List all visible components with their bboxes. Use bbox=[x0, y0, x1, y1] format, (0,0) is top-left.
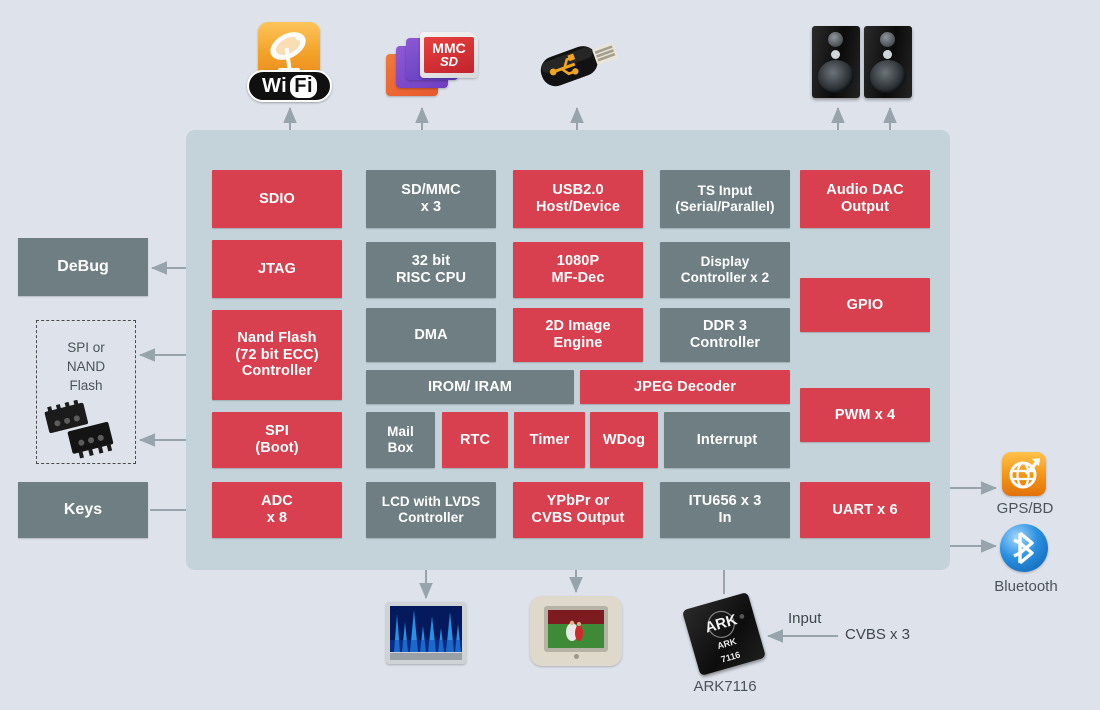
flash-label-line1: SPI or bbox=[36, 338, 136, 357]
block-lcd-lvds-controller[interactable]: LCD with LVDS Controller bbox=[366, 482, 496, 538]
wifi-wordmark: WiFi bbox=[247, 70, 332, 102]
speaker-left-icon bbox=[812, 26, 864, 104]
gps-globe-icon bbox=[1002, 452, 1046, 496]
block-jtag[interactable]: JTAG bbox=[212, 240, 342, 298]
block-wdog[interactable]: WDog bbox=[590, 412, 658, 468]
block-label: Output bbox=[841, 199, 889, 216]
block-adc[interactable]: ADC x 8 bbox=[212, 482, 342, 538]
block-label: Display bbox=[701, 254, 750, 270]
peripheral-label: DeBug bbox=[57, 258, 109, 276]
block-2d-image-engine[interactable]: 2D Image Engine bbox=[513, 308, 643, 362]
block-label: 1080P bbox=[557, 253, 599, 270]
block-label: JTAG bbox=[258, 261, 296, 278]
block-sd-mmc[interactable]: SD/MMC x 3 bbox=[366, 170, 496, 228]
peripheral-debug[interactable]: DeBug bbox=[18, 238, 148, 296]
block-risc-cpu[interactable]: 32 bit RISC CPU bbox=[366, 242, 496, 298]
block-jpeg-decoder[interactable]: JPEG Decoder bbox=[580, 370, 790, 404]
block-label: Interrupt bbox=[697, 432, 758, 449]
block-mail-box[interactable]: Mail Box bbox=[366, 412, 435, 468]
block-label: (Serial/Parallel) bbox=[675, 199, 774, 215]
bluetooth-caption: Bluetooth bbox=[966, 578, 1086, 595]
block-label: Controller bbox=[242, 363, 312, 380]
block-label: Mail bbox=[387, 424, 414, 440]
block-label: PWM x 4 bbox=[835, 407, 895, 424]
block-label: WDog bbox=[603, 432, 645, 449]
block-label: MF-Dec bbox=[552, 270, 605, 287]
block-ypbpr-cvbs-output[interactable]: YPbPr or CVBS Output bbox=[513, 482, 643, 538]
block-label: SPI bbox=[265, 423, 289, 440]
block-ts-input[interactable]: TS Input (Serial/Parallel) bbox=[660, 170, 790, 228]
input-annotation: Input bbox=[788, 610, 821, 627]
block-irom-iram[interactable]: IROM/ IRAM bbox=[366, 370, 574, 404]
block-label: 2D Image bbox=[545, 318, 610, 335]
block-label: Box bbox=[388, 440, 414, 456]
block-label: RISC CPU bbox=[396, 270, 466, 287]
block-uart[interactable]: UART x 6 bbox=[800, 482, 930, 538]
svg-text:ARK: ARK bbox=[703, 611, 739, 636]
block-ddr3-controller[interactable]: DDR 3 Controller bbox=[660, 308, 790, 362]
monitor-stand-bar bbox=[390, 653, 462, 660]
block-usb2-host-device[interactable]: USB2.0 Host/Device bbox=[513, 170, 643, 228]
block-label: Nand Flash bbox=[237, 330, 316, 347]
flash-label-line3: Flash bbox=[36, 376, 136, 395]
usb-flash-drive-icon bbox=[528, 24, 628, 96]
block-label: ADC bbox=[261, 493, 293, 510]
wifi-label-wi: Wi bbox=[262, 75, 287, 98]
flash-group-label: SPI or NAND Flash bbox=[36, 338, 136, 395]
block-sdio[interactable]: SDIO bbox=[212, 170, 342, 228]
flash-chip-icon bbox=[40, 400, 136, 462]
block-label: x 8 bbox=[267, 510, 287, 527]
block-label: SDIO bbox=[259, 191, 295, 208]
block-label: YPbPr or bbox=[547, 493, 610, 510]
block-label: Controller x 2 bbox=[681, 270, 769, 286]
block-1080p-mf-dec[interactable]: 1080P MF-Dec bbox=[513, 242, 643, 298]
block-label: JPEG Decoder bbox=[634, 379, 736, 396]
block-nand-flash-controller[interactable]: Nand Flash (72 bit ECC) Controller bbox=[212, 310, 342, 400]
peripheral-keys[interactable]: Keys bbox=[18, 482, 148, 538]
block-label: Audio DAC bbox=[826, 182, 903, 199]
block-label: x 3 bbox=[421, 199, 441, 216]
block-label: In bbox=[718, 510, 731, 527]
block-itu656-in[interactable]: ITU656 x 3 In bbox=[660, 482, 790, 538]
block-dma[interactable]: DMA bbox=[366, 308, 496, 362]
flash-label-line2: NAND bbox=[36, 357, 136, 376]
block-interrupt[interactable]: Interrupt bbox=[664, 412, 790, 468]
memory-card-icon: MMC SD bbox=[386, 30, 486, 100]
block-label: UART x 6 bbox=[832, 502, 897, 519]
block-label: USB2.0 bbox=[552, 182, 603, 199]
block-label: Timer bbox=[530, 432, 570, 449]
block-gpio[interactable]: GPIO bbox=[800, 278, 930, 332]
sd-card-sd-text: SD bbox=[440, 55, 458, 69]
cvbs-annotation: CVBS x 3 bbox=[845, 626, 910, 643]
bluetooth-icon bbox=[1000, 524, 1048, 572]
wifi-label-fi: Fi bbox=[290, 75, 317, 98]
block-label: RTC bbox=[460, 432, 490, 449]
speaker-right-icon bbox=[864, 26, 916, 104]
block-rtc[interactable]: RTC bbox=[442, 412, 508, 468]
block-label: CVBS Output bbox=[532, 510, 625, 527]
block-label: GPIO bbox=[847, 297, 884, 314]
block-pwm[interactable]: PWM x 4 bbox=[800, 388, 930, 442]
block-label: (Boot) bbox=[255, 440, 298, 457]
headrest-display-icon bbox=[530, 596, 622, 666]
block-label: ITU656 x 3 bbox=[689, 493, 762, 510]
block-label: (72 bit ECC) bbox=[235, 347, 318, 364]
block-label: Engine bbox=[554, 335, 603, 352]
block-display-controller[interactable]: Display Controller x 2 bbox=[660, 242, 790, 298]
block-label: LCD with LVDS bbox=[382, 494, 481, 510]
block-audio-dac-output[interactable]: Audio DAC Output bbox=[800, 170, 930, 228]
ark7116-caption: ARK7116 bbox=[660, 678, 790, 695]
block-label: Host/Device bbox=[536, 199, 620, 216]
block-spi-boot[interactable]: SPI (Boot) bbox=[212, 412, 342, 468]
diagram-canvas: SDIO JTAG Nand Flash (72 bit ECC) Contro… bbox=[0, 0, 1100, 710]
gps-caption: GPS/BD bbox=[975, 500, 1075, 517]
block-label: IROM/ IRAM bbox=[428, 379, 512, 396]
sd-card-mmc-text: MMC bbox=[432, 41, 465, 55]
block-label: Controller bbox=[398, 510, 464, 526]
block-label: 32 bit bbox=[412, 253, 450, 270]
block-label: TS Input bbox=[698, 183, 753, 199]
block-timer[interactable]: Timer bbox=[514, 412, 585, 468]
block-label: DDR 3 bbox=[703, 318, 747, 335]
block-label: DMA bbox=[414, 327, 447, 344]
peripheral-label: Keys bbox=[64, 501, 102, 519]
lcd-monitor-icon bbox=[386, 602, 466, 664]
block-label: SD/MMC bbox=[401, 182, 460, 199]
block-label: Controller bbox=[690, 335, 760, 352]
